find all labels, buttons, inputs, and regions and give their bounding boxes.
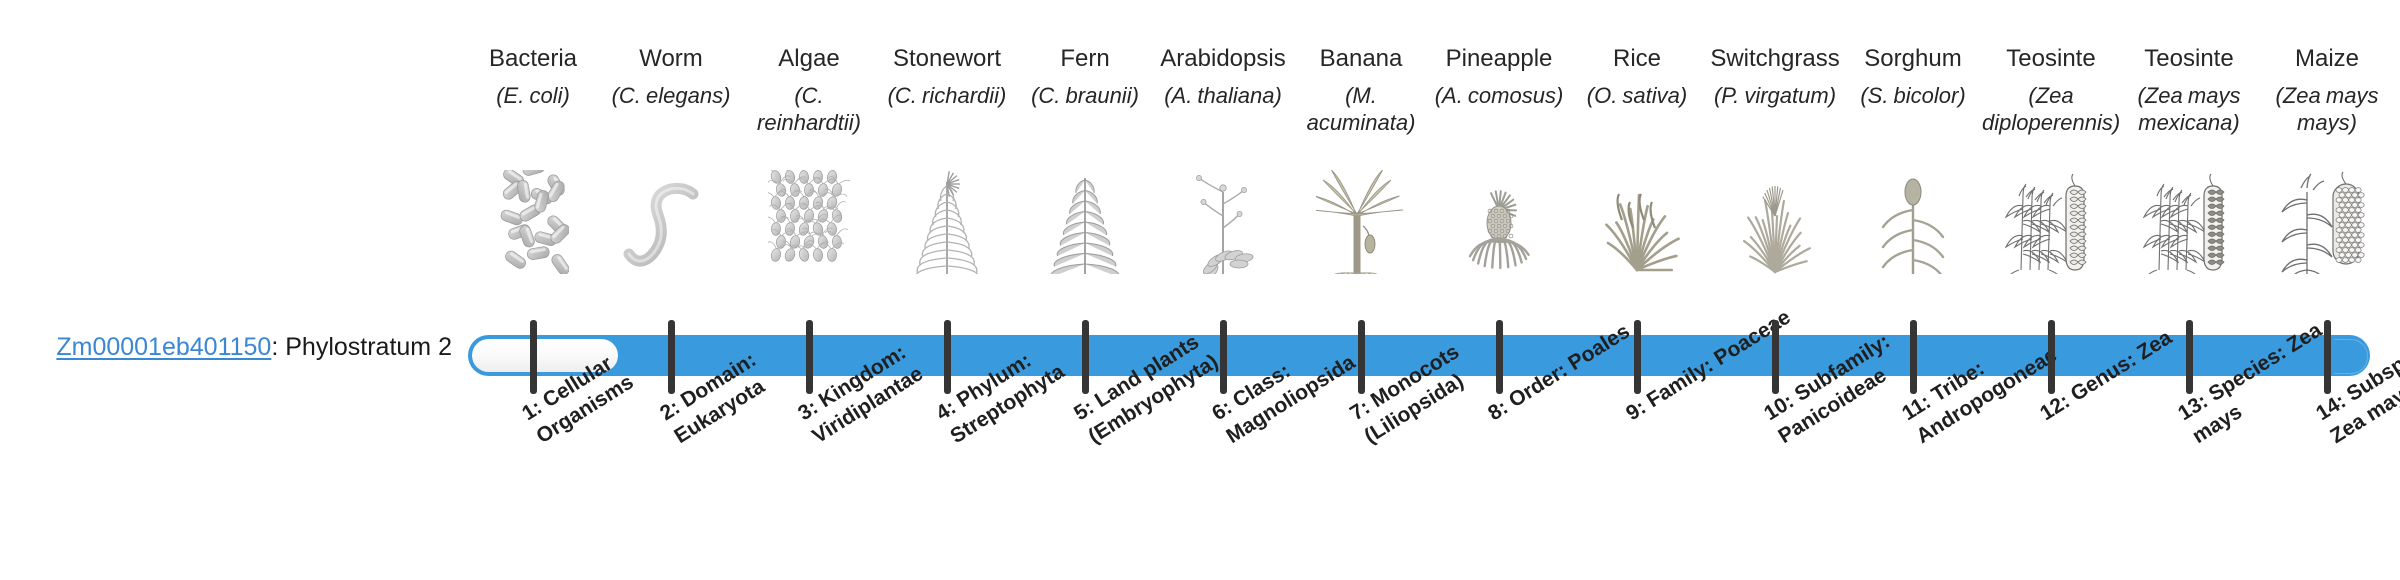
stratum-tick-2[interactable] [668, 320, 675, 394]
pineapple-illustration [1430, 168, 1568, 274]
species-scientific-name: (C. braunii) [1016, 82, 1154, 109]
stratum-tick-13[interactable] [2186, 320, 2193, 394]
species-scientific-name: (Zea diploperennis) [1982, 82, 2120, 136]
species-common-name: Fern [1016, 44, 1154, 74]
species-header-pineapple: Pineapple(A. comosus) [1430, 44, 1568, 109]
species-scientific-name: (Zea mays mexicana) [2120, 82, 2258, 136]
species-common-name: Pineapple [1430, 44, 1568, 74]
species-header-algae: Algae(C. reinhardtii) [740, 44, 878, 136]
stratum-tick-14[interactable] [2324, 320, 2331, 394]
species-scientific-name: (A. thaliana) [1154, 82, 1292, 109]
species-scientific-name: (P. virgatum) [1706, 82, 1844, 109]
bacteria-illustration [464, 168, 602, 274]
species-header-teosinte: Teosinte(Zea diploperennis) [1982, 44, 2120, 136]
banana-illustration [1292, 168, 1430, 274]
stratum-tick-10[interactable] [1772, 320, 1779, 394]
species-common-name: Bacteria [464, 44, 602, 74]
switchgrass-illustration [1706, 168, 1844, 274]
species-header-sorghum: Sorghum(S. bicolor) [1844, 44, 1982, 109]
species-scientific-name: (M. acuminata) [1292, 82, 1430, 136]
stratum-tick-3[interactable] [806, 320, 813, 394]
species-header-bacteria: Bacteria(E. coli) [464, 44, 602, 109]
species-common-name: Rice [1568, 44, 1706, 74]
stratum-tick-8[interactable] [1496, 320, 1503, 394]
gene-phylostratum-label: Zm00001eb401150: Phylostratum 2 [42, 332, 452, 362]
species-common-name: Arabidopsis [1154, 44, 1292, 74]
species-common-name: Switchgrass [1706, 44, 1844, 74]
maize-illustration [2258, 168, 2396, 274]
species-common-name: Algae [740, 44, 878, 74]
phylostratigraphy-timeline: Zm00001eb401150: Phylostratum 2 Bacteria… [0, 0, 2400, 580]
species-common-name: Teosinte [2120, 44, 2258, 74]
algae-illustration [740, 168, 878, 274]
species-scientific-name: (S. bicolor) [1844, 82, 1982, 109]
species-common-name: Sorghum [1844, 44, 1982, 74]
teosinte-mexicana-illustration [2120, 168, 2258, 274]
arabidopsis-illustration [1154, 168, 1292, 274]
species-scientific-name: (E. coli) [464, 82, 602, 109]
species-header-maize: Maize(Zea mays mays) [2258, 44, 2396, 136]
gene-label-separator: : [271, 333, 285, 361]
worm-illustration [602, 168, 740, 274]
sorghum-illustration [1844, 168, 1982, 274]
species-common-name: Maize [2258, 44, 2396, 74]
species-scientific-name: (O. sativa) [1568, 82, 1706, 109]
species-header-switchgrass: Switchgrass(P. virgatum) [1706, 44, 1844, 109]
rice-illustration [1568, 168, 1706, 274]
species-common-name: Teosinte [1982, 44, 2120, 74]
species-scientific-name: (A. comosus) [1430, 82, 1568, 109]
species-common-name: Stonewort [878, 44, 1016, 74]
gene-id-link[interactable]: Zm00001eb401150 [56, 333, 271, 361]
species-header-arabidopsis: Arabidopsis(A. thaliana) [1154, 44, 1292, 109]
phylostratum-value: Phylostratum 2 [285, 333, 452, 361]
stonewort-illustration [878, 168, 1016, 274]
fern-illustration [1016, 168, 1154, 274]
species-header-rice: Rice(O. sativa) [1568, 44, 1706, 109]
stratum-tick-12[interactable] [2048, 320, 2055, 394]
stratum-tick-4[interactable] [944, 320, 951, 394]
stratum-tick-1[interactable] [530, 320, 537, 394]
stratum-tick-5[interactable] [1082, 320, 1089, 394]
species-common-name: Worm [602, 44, 740, 74]
species-header-stonewort: Stonewort(C. richardii) [878, 44, 1016, 109]
species-header-fern: Fern(C. braunii) [1016, 44, 1154, 109]
species-scientific-name: (Zea mays mays) [2258, 82, 2396, 136]
teosinte-diploperennis-illustration [1982, 168, 2120, 274]
stratum-tick-9[interactable] [1634, 320, 1641, 394]
species-common-name: Banana [1292, 44, 1430, 74]
stratum-tick-11[interactable] [1910, 320, 1917, 394]
species-header-worm: Worm(C. elegans) [602, 44, 740, 109]
species-scientific-name: (C. reinhardtii) [740, 82, 878, 136]
species-scientific-name: (C. elegans) [602, 82, 740, 109]
species-header-teosinte: Teosinte(Zea mays mexicana) [2120, 44, 2258, 136]
species-scientific-name: (C. richardii) [878, 82, 1016, 109]
species-header-banana: Banana(M. acuminata) [1292, 44, 1430, 136]
stratum-tick-7[interactable] [1358, 320, 1365, 394]
stratum-tick-6[interactable] [1220, 320, 1227, 394]
